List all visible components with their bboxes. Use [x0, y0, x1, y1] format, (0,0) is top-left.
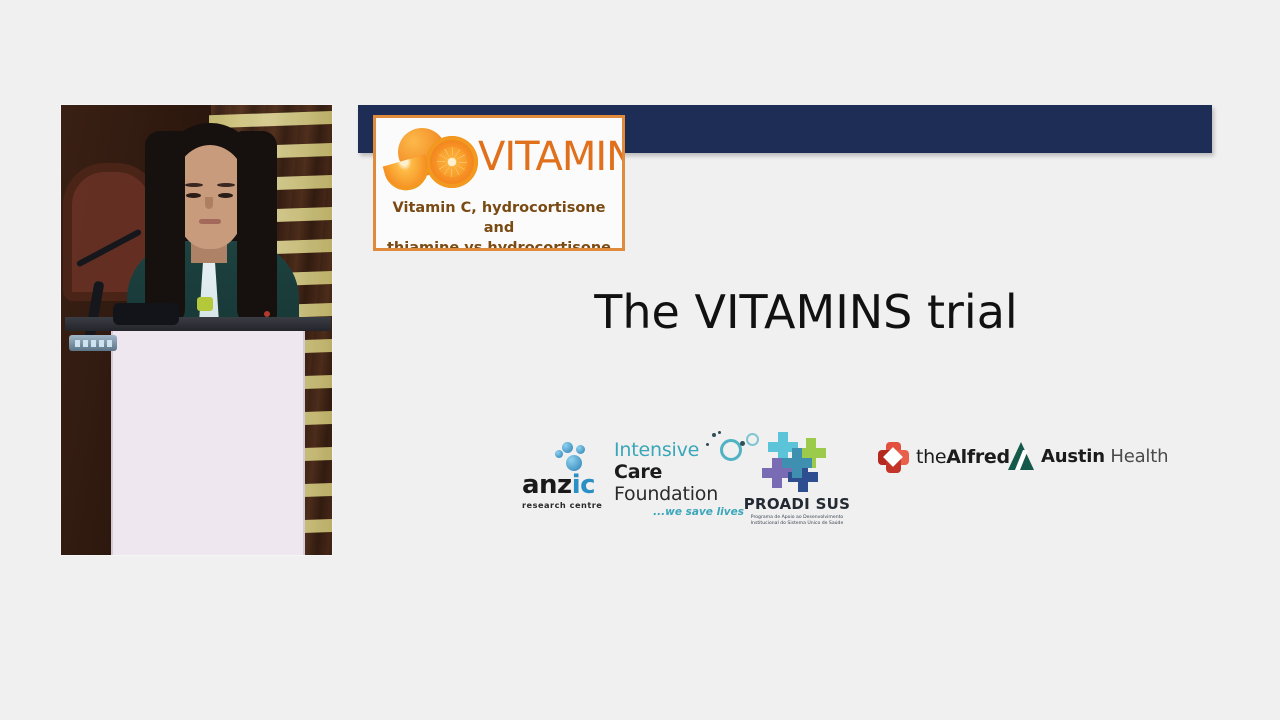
anzic-wordmark: anzic	[522, 472, 606, 499]
austin-word-bold: Austin	[1041, 446, 1105, 467]
multicolor-crosses-icon	[760, 432, 834, 494]
vitamins-wordmark: VITAMINS	[478, 128, 625, 186]
lectern-panel: Critical Care Reviews	[111, 331, 305, 555]
hair-left	[145, 131, 185, 331]
red-cross-petal-icon	[878, 442, 908, 472]
icf-line2: Care Foundation	[614, 461, 744, 505]
blue-spheres-icon	[522, 442, 606, 472]
anzic-word-dark: anz	[522, 470, 572, 500]
anzic-word-accent: ic	[572, 470, 595, 500]
sponsor-logo-row: anzic research centre Intensive Care Fou…	[522, 428, 1280, 538]
red-indicator	[264, 311, 270, 317]
hair-right	[237, 131, 277, 331]
logo-the-alfred: theAlfred	[878, 442, 1003, 472]
vitamins-subtitle-line1: Vitamin C, hydrocortisone and	[378, 198, 620, 238]
vitamins-subtitle: Vitamin C, hydrocortisone and thiamine v…	[376, 198, 622, 251]
proadi-subtitle: Programa de Apoio ao Desenvolvimento Ins…	[738, 515, 856, 527]
icf-line2-rest: Foundation	[614, 483, 718, 505]
presentation-slide: VITAMINS Vitamin C, hydrocortisone and t…	[332, 0, 1280, 720]
alfred-wordmark: theAlfred	[916, 446, 1010, 468]
presenter-video[interactable]: Critical Care Reviews	[61, 105, 332, 555]
lectern-top	[65, 317, 331, 331]
logo-anzic: anzic research centre	[522, 442, 606, 510]
slide-title: The VITAMINS trial	[332, 285, 1280, 339]
alfred-word-regular: the	[916, 446, 946, 468]
alfred-word-bold: Alfred	[946, 446, 1010, 468]
logo-intensive-care-foundation: Intensive Care Foundation ...we save liv…	[614, 440, 744, 518]
green-triangle-icon	[1008, 442, 1035, 470]
proadi-wordmark: PROADI SUS	[738, 495, 856, 513]
logo-proadi-sus: PROADI SUS Programa de Apoio ao Desenvol…	[738, 432, 856, 527]
icf-line2-bold: Care	[614, 461, 662, 483]
icf-tagline: ...we save lives	[614, 506, 744, 518]
austin-wordmark: Austin Health	[1041, 446, 1168, 467]
vitamins-logo-box: VITAMINS Vitamin C, hydrocortisone and t…	[373, 115, 625, 251]
nose	[205, 197, 213, 209]
proadi-subtitle-line2: Institucional do Sistema Único de Saúde	[738, 521, 856, 527]
green-clip	[197, 297, 213, 311]
mouth	[199, 219, 221, 224]
vitamins-subtitle-line2: thiamine vs hydrocortisone in septic sho…	[378, 238, 620, 251]
lectern-light	[69, 335, 117, 351]
microphone-head	[113, 303, 179, 325]
austin-word-regular: Health	[1105, 446, 1168, 467]
logo-austin-health: Austin Health	[1008, 442, 1138, 470]
slide-stage: Critical Care Reviews VITAMINS	[0, 0, 1280, 720]
anzic-subtitle: research centre	[522, 500, 606, 510]
oranges-icon	[386, 126, 482, 196]
